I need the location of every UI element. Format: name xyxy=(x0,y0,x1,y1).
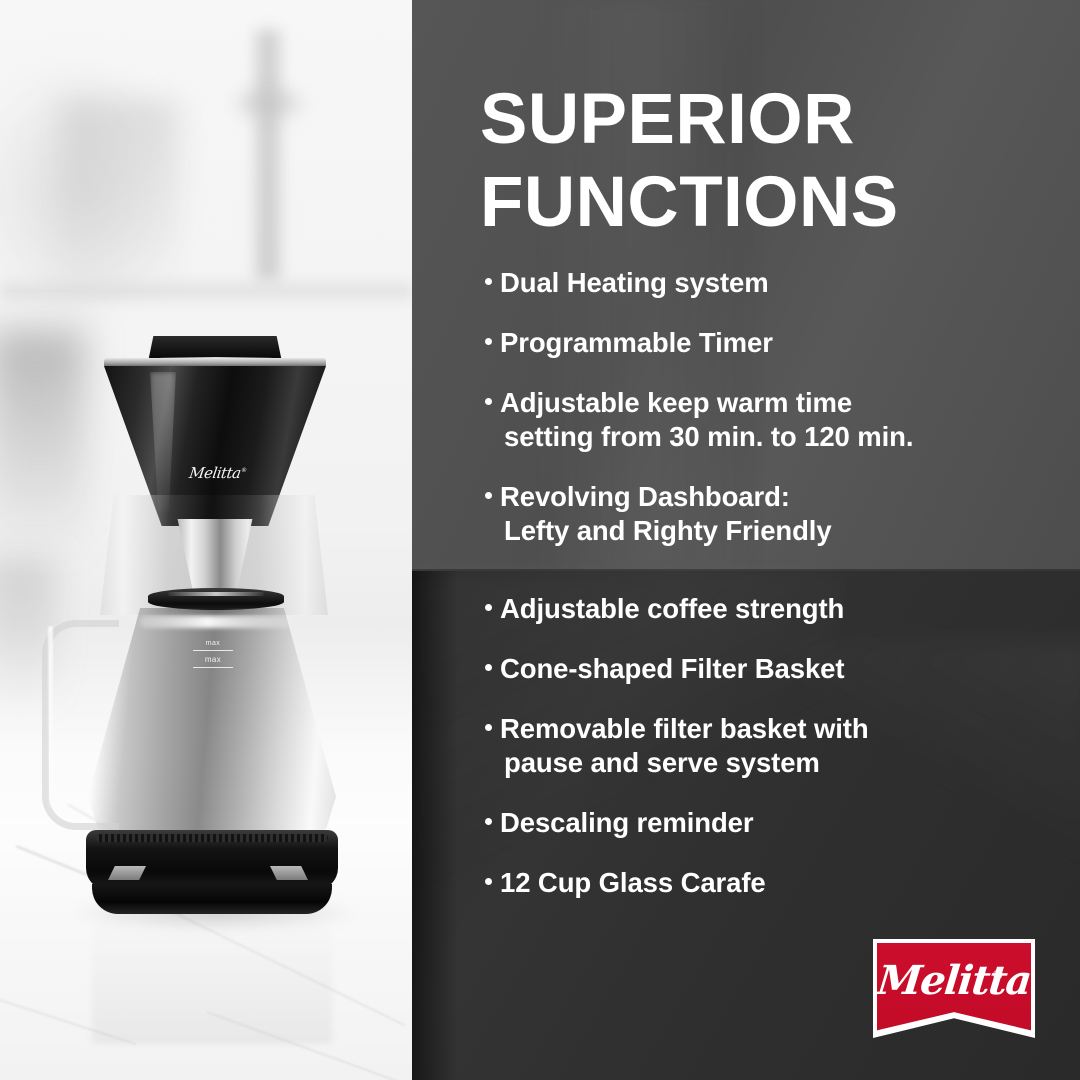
feature-text-line-1: Dual Heating system xyxy=(500,267,769,298)
feature-item: Adjustable keep warm time setting from 3… xyxy=(412,386,1080,454)
feature-text-line-1: Cone-shaped Filter Basket xyxy=(500,653,844,684)
carafe-max-label-lower: max xyxy=(193,655,233,664)
feature-item: Adjustable coffee strength xyxy=(412,592,1080,626)
feature-item: Revolving Dashboard: Lefty and Righty Fr… xyxy=(412,480,1080,548)
carafe-level-line-lower xyxy=(193,667,233,668)
feature-text-line-1: Removable filter basket with xyxy=(500,713,869,744)
base-ridge-detail xyxy=(96,834,328,842)
bullet-dot-icon xyxy=(485,818,492,825)
bullet-dot-icon xyxy=(485,604,492,611)
product-brand-mark: Melitta® xyxy=(182,462,255,480)
carafe-top-highlight xyxy=(140,616,290,628)
feature-item: 12 Cup Glass Carafe xyxy=(412,866,1080,900)
logo-banner-fill: Melitta ® xyxy=(877,943,1031,1034)
carafe-handle xyxy=(42,620,119,830)
bullet-dot-icon xyxy=(485,724,492,731)
feature-list-primary: Dual Heating system Programmable Timer A… xyxy=(412,266,1080,574)
feature-text-line-2: setting from 30 min. to 120 min. xyxy=(500,420,1080,454)
bullet-dot-icon xyxy=(485,278,492,285)
feature-item: Dual Heating system xyxy=(412,266,1080,300)
carafe-level-line-upper xyxy=(193,650,233,651)
coffee-maker: Melitta® max max xyxy=(0,0,412,1080)
feature-item: Programmable Timer xyxy=(412,326,1080,360)
feature-text-line-1: Programmable Timer xyxy=(500,327,773,358)
feature-text-line-1: Descaling reminder xyxy=(500,807,753,838)
product-brand-mark-text: Melitta xyxy=(188,464,242,482)
feature-text-line-1: Adjustable coffee strength xyxy=(500,593,844,624)
bullet-dot-icon xyxy=(485,492,492,499)
logo-wordmark: Melitta xyxy=(875,959,1034,1003)
carafe-collar-highlight xyxy=(168,592,264,596)
page-title-line-1: SUPERIOR xyxy=(480,78,1060,161)
bullet-dot-icon xyxy=(485,398,492,405)
feature-item: Cone-shaped Filter Basket xyxy=(412,652,1080,686)
base-foot xyxy=(92,884,332,914)
carafe-max-label-upper: max xyxy=(193,640,233,647)
melitta-logo: Melitta ® xyxy=(873,939,1035,1038)
page-title: SUPERIOR FUNCTIONS xyxy=(480,78,1060,244)
countertop-reflection xyxy=(92,914,332,1044)
product-brand-mark-trademark: ® xyxy=(241,467,247,474)
feature-item: Removable filter basket with pause and s… xyxy=(412,712,1080,780)
feature-item: Descaling reminder xyxy=(412,806,1080,840)
feature-text-line-2: pause and serve system xyxy=(500,746,1080,780)
page-title-line-2: FUNCTIONS xyxy=(480,161,1060,244)
feature-list-secondary: Adjustable coffee strength Cone-shaped F… xyxy=(412,592,1080,926)
bullet-dot-icon xyxy=(485,664,492,671)
feature-text-line-1: Revolving Dashboard: xyxy=(500,481,790,512)
product-feature-poster: Melitta® max max xyxy=(0,0,1080,1080)
feature-text-line-1: 12 Cup Glass Carafe xyxy=(500,867,766,898)
bullet-dot-icon xyxy=(485,878,492,885)
registered-trademark-icon: ® xyxy=(993,967,1003,982)
product-photo: Melitta® max max xyxy=(0,0,412,1080)
feature-text-line-2: Lefty and Righty Friendly xyxy=(500,514,1080,548)
feature-text-line-1: Adjustable keep warm time xyxy=(500,387,852,418)
carafe-handle-highlight xyxy=(48,626,53,808)
features-panel: SUPERIOR FUNCTIONS Dual Heating system P… xyxy=(412,0,1080,1080)
bullet-dot-icon xyxy=(485,338,492,345)
